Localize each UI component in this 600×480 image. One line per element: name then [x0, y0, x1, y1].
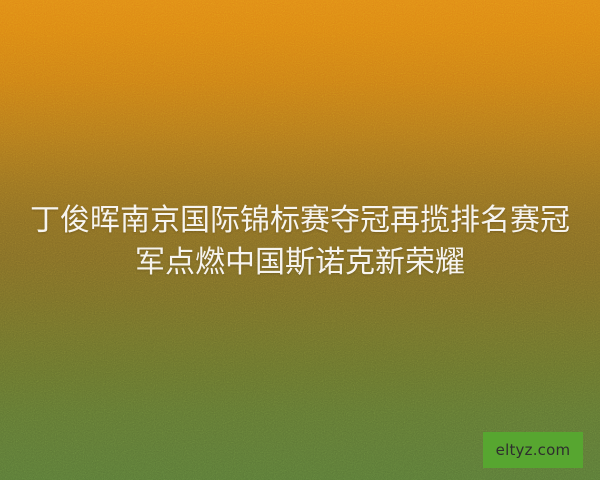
headline-title: 丁俊晖南京国际锦标赛夺冠再揽排名赛冠 军点燃中国斯诺克新荣耀 — [0, 200, 600, 284]
headline-line-1: 丁俊晖南京国际锦标赛夺冠再揽排名赛冠 — [14, 200, 586, 242]
watermark-label: eltyz.com — [496, 443, 571, 458]
watermark-badge: eltyz.com — [483, 432, 583, 468]
hero-banner: 丁俊晖南京国际锦标赛夺冠再揽排名赛冠 军点燃中国斯诺克新荣耀 eltyz.com — [0, 0, 600, 480]
headline-line-2: 军点燃中国斯诺克新荣耀 — [14, 242, 586, 284]
